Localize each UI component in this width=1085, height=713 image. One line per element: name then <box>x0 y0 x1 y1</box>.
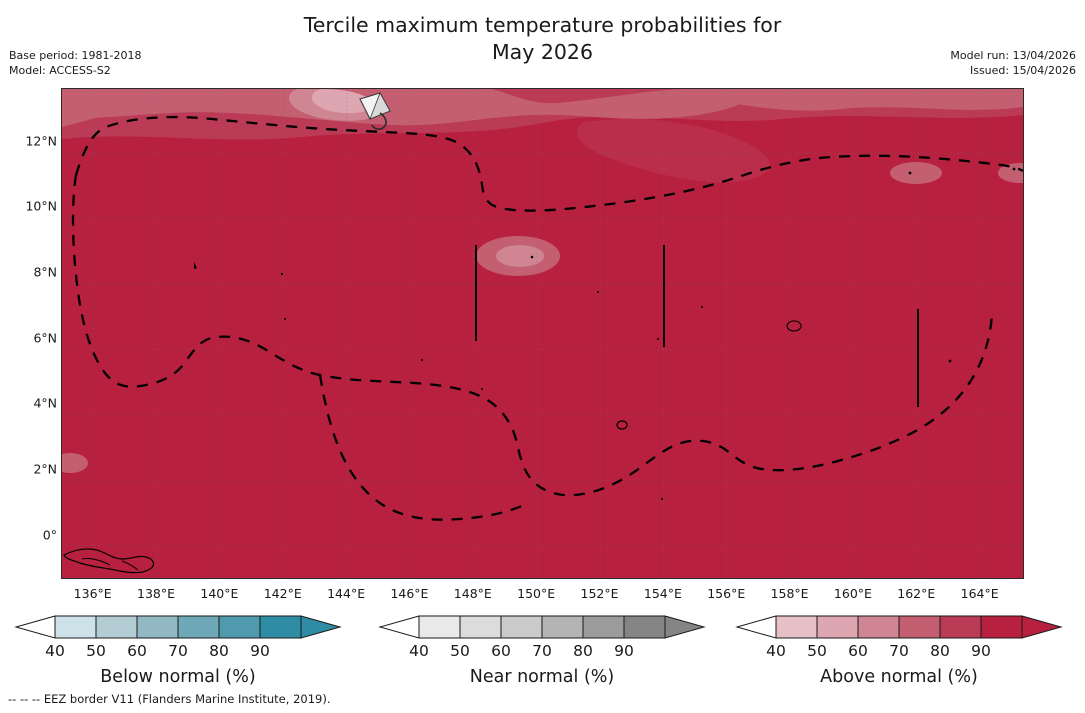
colorbar-segment[interactable] <box>96 616 137 638</box>
colorbar-over-arrow <box>665 616 704 638</box>
x-axis-tick: 158°E <box>771 586 809 601</box>
colorbar-above-ticks: 405060708090 <box>729 642 1069 664</box>
colorbar-tick: 90 <box>971 642 991 660</box>
colorbar-tick: 50 <box>450 642 470 660</box>
colorbar-over-arrow <box>1022 616 1061 638</box>
colorbar-segment[interactable] <box>219 616 260 638</box>
colorbar-tick: 40 <box>766 642 786 660</box>
x-axis-tick: 146°E <box>390 586 428 601</box>
header: Tercile maximum temperature probabilitie… <box>0 0 1085 88</box>
colorbar-below-label: Below normal (%) <box>8 667 348 687</box>
colorbar-tick: 50 <box>86 642 106 660</box>
colorbar-segment[interactable] <box>981 616 1022 638</box>
colorbar-tick: 70 <box>889 642 909 660</box>
colorbar-under-arrow <box>737 616 776 638</box>
x-axis-tick: 152°E <box>581 586 619 601</box>
region-main-basin <box>62 89 1023 578</box>
x-axis-tick: 156°E <box>707 586 745 601</box>
colorbar-segment[interactable] <box>260 616 301 638</box>
colorbar-above-normal[interactable]: 405060708090 Above normal (%) <box>729 612 1069 687</box>
colorbar-segment[interactable] <box>137 616 178 638</box>
issued-text: Issued: 15/04/2026 <box>950 64 1076 79</box>
colorbar-segment[interactable] <box>624 616 665 638</box>
colorbar-segment[interactable] <box>501 616 542 638</box>
region-patch-161E-11N <box>890 162 942 184</box>
page-title: Tercile maximum temperature probabilitie… <box>0 12 1085 66</box>
x-axis-tick: 154°E <box>644 586 682 601</box>
forecast-map[interactable]: © Commonwealth of Australia 2026, Bureau… <box>61 88 1024 579</box>
colorbar-tick: 90 <box>250 642 270 660</box>
colorbar-segment[interactable] <box>460 616 501 638</box>
colorbar-tick: 80 <box>573 642 593 660</box>
colorbar-above-swatches[interactable] <box>729 612 1069 642</box>
x-axis-tick: 148°E <box>454 586 492 601</box>
y-axis-tick: 2°N <box>0 461 57 476</box>
model-run-text: Model run: 13/04/2026 <box>950 49 1076 64</box>
colorbar-tick: 60 <box>491 642 511 660</box>
y-axis-tick: 4°N <box>0 396 57 411</box>
colorbar-segment[interactable] <box>178 616 219 638</box>
colorbar-segment[interactable] <box>419 616 460 638</box>
colorbar-tick: 50 <box>807 642 827 660</box>
colorbar-near-swatches[interactable] <box>372 612 712 642</box>
colorbar-segment[interactable] <box>899 616 940 638</box>
colorbar-segment[interactable] <box>817 616 858 638</box>
colorbar-tick: 60 <box>848 642 868 660</box>
colorbar-segment[interactable] <box>55 616 96 638</box>
map-canvas <box>62 89 1023 578</box>
x-axis-tick: 150°E <box>517 586 555 601</box>
colorbar-segment[interactable] <box>583 616 624 638</box>
colorbar-below-swatches[interactable] <box>8 612 348 642</box>
colorbar-tick: 70 <box>168 642 188 660</box>
colorbar-segment[interactable] <box>858 616 899 638</box>
colorbar-tick: 80 <box>209 642 229 660</box>
colorbar-tick: 40 <box>409 642 429 660</box>
x-axis-tick: 144°E <box>327 586 365 601</box>
model-text: Model: ACCESS-S2 <box>9 64 141 79</box>
colorbar-over-arrow <box>301 616 340 638</box>
colorbar-below-ticks: 405060708090 <box>8 642 348 664</box>
y-axis-tick: 0° <box>0 527 57 542</box>
colorbar-tick: 60 <box>127 642 147 660</box>
y-axis-tick: 8°N <box>0 264 57 279</box>
y-axis-tick: 6°N <box>0 330 57 345</box>
colorbar-segment[interactable] <box>542 616 583 638</box>
colorbar-tick: 70 <box>532 642 552 660</box>
colorbar-tick: 90 <box>614 642 634 660</box>
x-axis-tick: 136°E <box>74 586 112 601</box>
base-period-text: Base period: 1981-2018 <box>9 49 141 64</box>
x-axis-tick: 164°E <box>961 586 999 601</box>
colorbar-segment[interactable] <box>940 616 981 638</box>
x-axis-tick: 138°E <box>137 586 175 601</box>
colorbar-near-label: Near normal (%) <box>372 667 712 687</box>
x-axis-tick: 142°E <box>264 586 302 601</box>
colorbar-tick: 40 <box>45 642 65 660</box>
x-axis-tick: 140°E <box>200 586 238 601</box>
colorbar-under-arrow <box>380 616 419 638</box>
colorbar-under-arrow <box>16 616 55 638</box>
metadata-left: Base period: 1981-2018 Model: ACCESS-S2 <box>9 49 141 78</box>
metadata-right: Model run: 13/04/2026 Issued: 15/04/2026 <box>950 49 1076 78</box>
colorbar-below-normal[interactable]: 405060708090 Below normal (%) <box>8 612 348 687</box>
y-axis-tick: 12°N <box>0 133 57 148</box>
x-axis-tick: 162°E <box>897 586 935 601</box>
colorbar-tick: 80 <box>930 642 950 660</box>
colorbar-segment[interactable] <box>776 616 817 638</box>
colorbar-near-normal[interactable]: 405060708090 Near normal (%) <box>372 612 712 687</box>
eez-border-note: -- -- -- EEZ border V11 (Flanders Marine… <box>8 692 330 706</box>
y-axis-tick: 10°N <box>0 199 57 214</box>
x-axis-tick: 160°E <box>834 586 872 601</box>
colorbar-above-label: Above normal (%) <box>729 667 1069 687</box>
colorbar-near-ticks: 405060708090 <box>372 642 712 664</box>
region-patch-150E-9N-inner <box>496 245 544 267</box>
